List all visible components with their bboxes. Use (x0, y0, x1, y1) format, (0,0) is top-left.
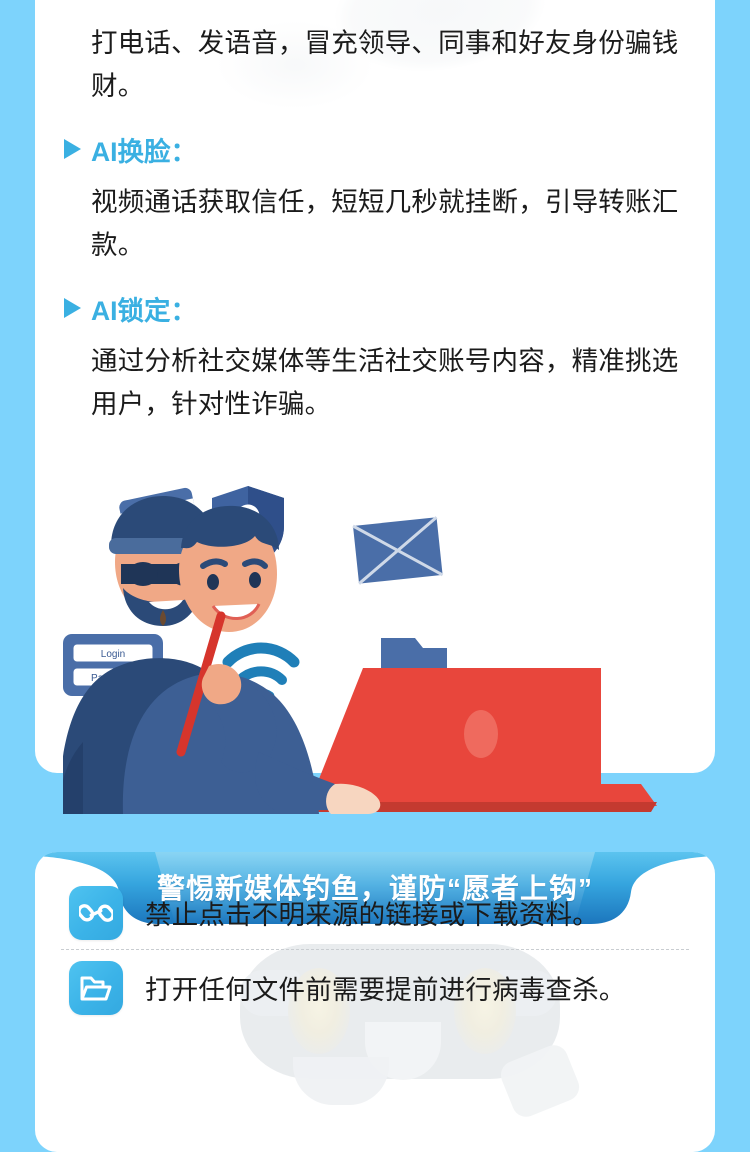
ai-heading-label: AI锁定： (91, 289, 197, 328)
open-folder-icon (69, 961, 123, 1015)
list-item-label: 打开任何文件前需要提前进行病毒查杀。 (145, 968, 626, 1007)
phishing-tips-list: 禁止点击不明来源的链接或下载资料。 打开任何文件前需要提前进行病毒查杀。 (35, 852, 715, 1020)
list-divider (61, 949, 689, 950)
triangle-right-icon (64, 139, 81, 159)
ai-heading-face-swap: AI换脸： (63, 130, 687, 169)
link-chain-icon (69, 886, 123, 940)
ai-heading-label: AI换脸： (91, 130, 197, 169)
phishing-card: 警惕新媒体钓鱼，谨防“愿者上钩” 禁止点击不明来源的链接或下载资料。 (35, 852, 715, 1152)
ai-body-text: 通过分析社交媒体等生活社交账号内容，精准挑选 (63, 340, 687, 383)
ai-heading-targeting: AI锁定： (63, 289, 687, 328)
login-label: Login (101, 649, 125, 660)
list-item-label: 禁止点击不明来源的链接或下载资料。 (145, 893, 599, 932)
list-item[interactable]: 打开任何文件前需要提前进行病毒查杀。 (35, 955, 715, 1020)
held-smiling-mask (179, 505, 279, 631)
ai-body-text: 视频通话获取信任，短短几秒就挂断，引导转账汇款。 (63, 181, 687, 267)
ai-fraud-card: 打电话、发语音，冒充领导、同事和好友身份骗钱财。 AI换脸： 视频通话获取信任，… (35, 0, 715, 773)
fraudster-impersonation-illustration: Login Password (63, 484, 687, 819)
ai-body-text: 打电话、发语音，冒充领导、同事和好友身份骗钱财。 (63, 22, 687, 108)
ai-body-text: 用户，针对性诈骗。 (63, 383, 687, 426)
envelope-icon (353, 517, 443, 583)
list-item[interactable]: 禁止点击不明来源的链接或下载资料。 (35, 880, 715, 945)
triangle-right-icon (64, 298, 81, 318)
